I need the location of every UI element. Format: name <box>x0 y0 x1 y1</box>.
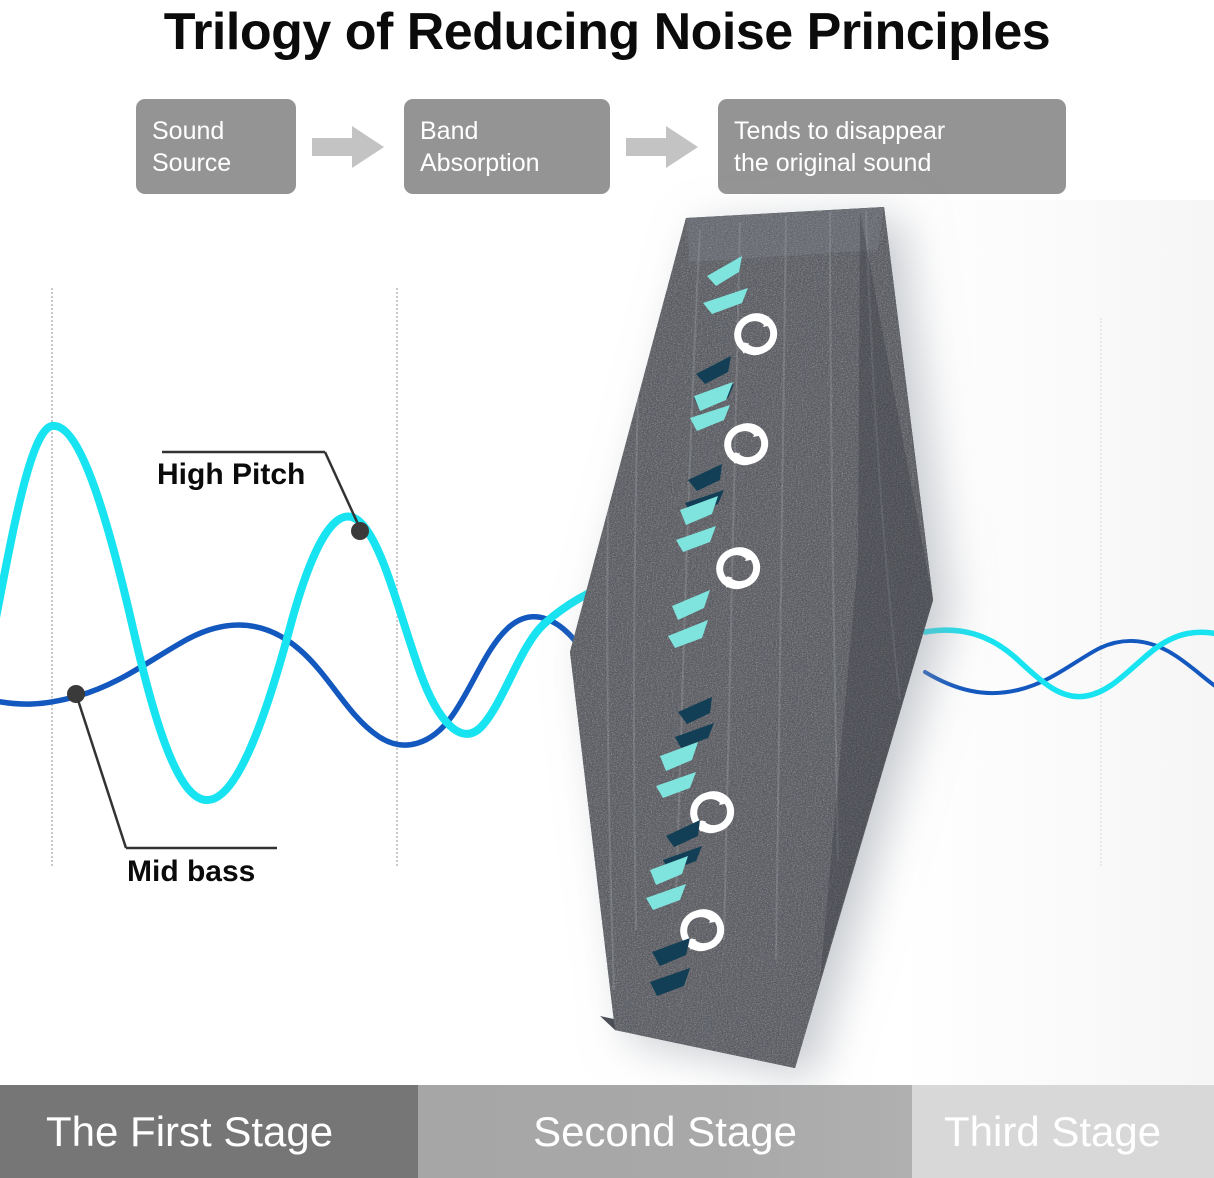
stage-segment-third: Third Stage <box>912 1085 1214 1178</box>
stage-progress-bar: The First Stage Second Stage Third Stage <box>0 1085 1214 1178</box>
stage-segment-first: The First Stage <box>0 1085 418 1178</box>
stage-segment-second: Second Stage <box>418 1085 912 1178</box>
stage-label-first: The First Stage <box>46 1108 333 1156</box>
callout-label-high-pitch: High Pitch <box>157 458 305 492</box>
callout-mid-bass <box>67 685 277 848</box>
callout-dot-high-pitch <box>351 522 369 540</box>
stage-label-second: Second Stage <box>533 1108 797 1156</box>
infographic-canvas: Trilogy of Reducing Noise Principles Sou… <box>0 0 1214 1178</box>
callout-label-mid-bass: Mid bass <box>127 855 255 889</box>
callout-leaders <box>0 0 1214 1178</box>
stage-label-third: Third Stage <box>944 1108 1161 1156</box>
callout-dot-mid-bass <box>67 685 85 703</box>
